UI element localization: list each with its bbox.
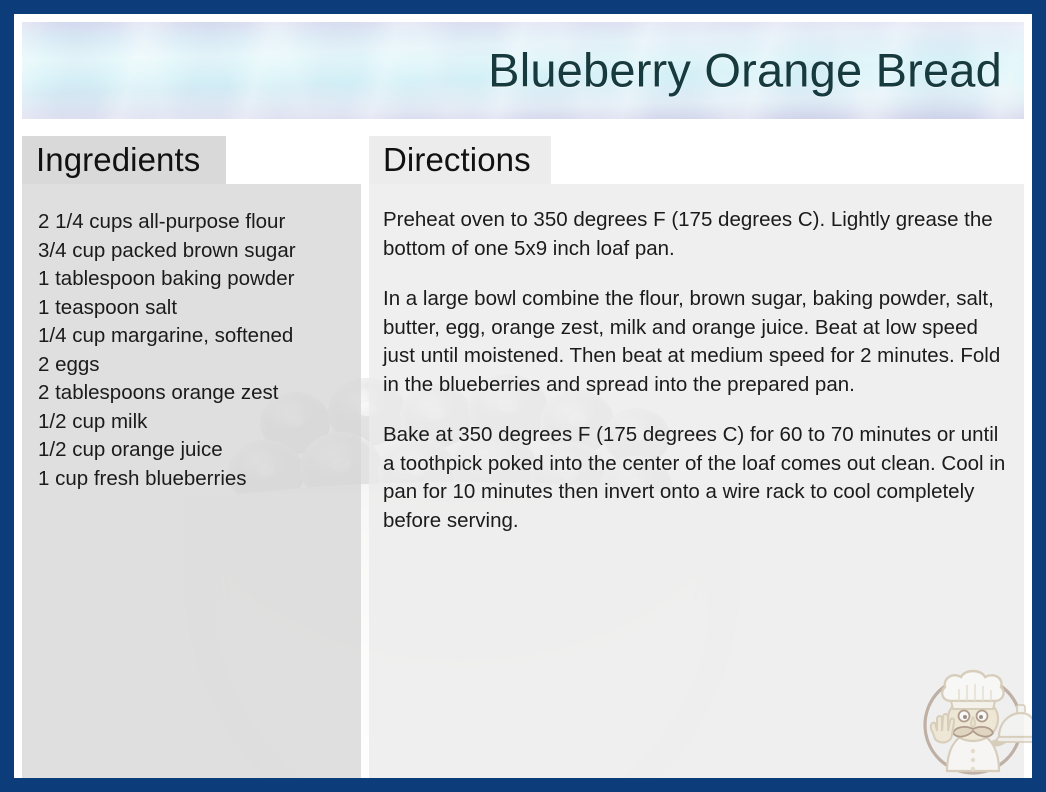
tab-ingredients[interactable]: Ingredients	[22, 136, 226, 184]
frame-border-left	[0, 0, 14, 792]
list-item: 1 tablespoon baking powder	[38, 265, 345, 294]
tab-directions[interactable]: Directions	[369, 136, 551, 184]
list-item: 3/4 cup packed brown sugar	[38, 237, 345, 266]
frame-border-bottom	[0, 778, 1046, 792]
list-item: 2 1/4 cups all-purpose flour	[38, 208, 345, 237]
page-title: Blueberry Orange Bread	[488, 42, 1002, 97]
frame-border-right	[1032, 0, 1046, 792]
chef-with-cloche-logo	[907, 659, 1032, 778]
tab-ingredients-label: Ingredients	[36, 141, 200, 179]
list-item: 1 teaspoon salt	[38, 294, 345, 323]
direction-paragraph: Preheat oven to 350 degrees F (175 degre…	[383, 206, 1006, 263]
card-inner: Blueberry Orange Bread	[14, 14, 1032, 778]
direction-paragraph: In a large bowl combine the flour, brown…	[383, 285, 1006, 399]
list-item: 1 cup fresh blueberries	[38, 465, 345, 494]
list-item: 2 tablespoons orange zest	[38, 379, 345, 408]
frame-border-top	[0, 0, 1046, 14]
recipe-card: Blueberry Orange Bread	[0, 0, 1046, 792]
ingredients-list: 2 1/4 cups all-purpose flour 3/4 cup pac…	[38, 208, 345, 493]
tab-directions-label: Directions	[383, 141, 531, 179]
header-banner: Blueberry Orange Bread	[22, 22, 1024, 119]
list-item: 1/4 cup margarine, softened	[38, 322, 345, 351]
ingredients-panel: 2 1/4 cups all-purpose flour 3/4 cup pac…	[22, 184, 361, 778]
list-item: 2 eggs	[38, 351, 345, 380]
list-item: 1/2 cup milk	[38, 408, 345, 437]
direction-paragraph: Bake at 350 degrees F (175 degrees C) fo…	[383, 421, 1006, 535]
list-item: 1/2 cup orange juice	[38, 436, 345, 465]
